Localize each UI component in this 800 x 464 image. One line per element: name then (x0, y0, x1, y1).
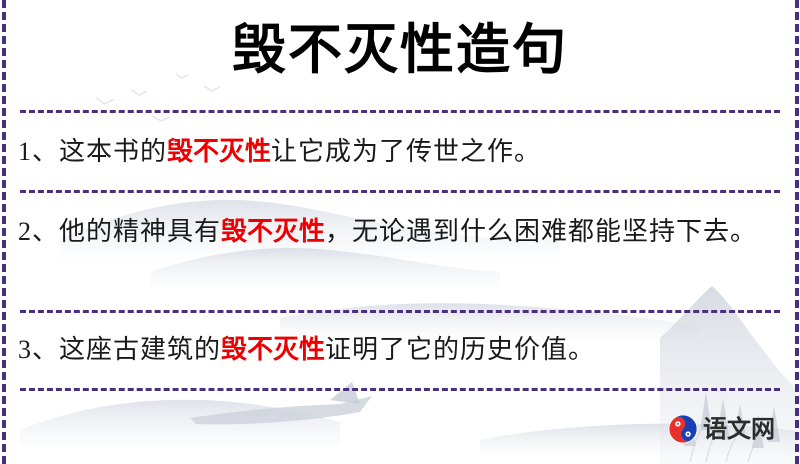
sentence-item-2: 2、他的精神具有毁不灭性，无论遇到什么困难都能坚持下去。 (18, 210, 766, 254)
sentence-after-3: 证明了它的历史价值。 (325, 335, 595, 364)
sentence-before-3: 这座古建筑的 (59, 335, 221, 364)
sentence-after-1: 让它成为了传世之作。 (271, 137, 541, 166)
sentence-index-3: 3、 (18, 335, 59, 364)
separator-line-2 (20, 190, 780, 193)
sentence-item-1: 1、这本书的毁不灭性让它成为了传世之作。 (18, 130, 766, 174)
sentence-card-page: 毁不灭性造句 1、这本书的毁不灭性让它成为了传世之作。 2、他的精神具有毁不灭性… (0, 0, 800, 464)
site-logo-text: 语文网 (703, 417, 775, 441)
site-logo: 语文网 (668, 414, 775, 444)
sentence-keyword-3: 毁不灭性 (221, 335, 325, 365)
sentence-before-1: 这本书的 (59, 137, 167, 166)
sentence-keyword-1: 毁不灭性 (167, 137, 271, 167)
sentence-item-3: 3、这座古建筑的毁不灭性证明了它的历史价值。 (18, 328, 766, 372)
sentence-keyword-2: 毁不灭性 (221, 217, 325, 247)
separator-line-4 (20, 388, 780, 391)
separator-line-3 (20, 310, 780, 313)
sentence-index-1: 1、 (18, 137, 59, 166)
separator-line-1 (20, 110, 780, 113)
sentence-after-2: ，无论遇到什么困难都能坚持下去。 (325, 217, 757, 246)
sentence-index-2: 2、 (18, 217, 59, 246)
taiji-fish-circle-icon (668, 414, 698, 444)
sentence-before-2: 他的精神具有 (59, 217, 221, 246)
page-title: 毁不灭性造句 (0, 18, 800, 80)
